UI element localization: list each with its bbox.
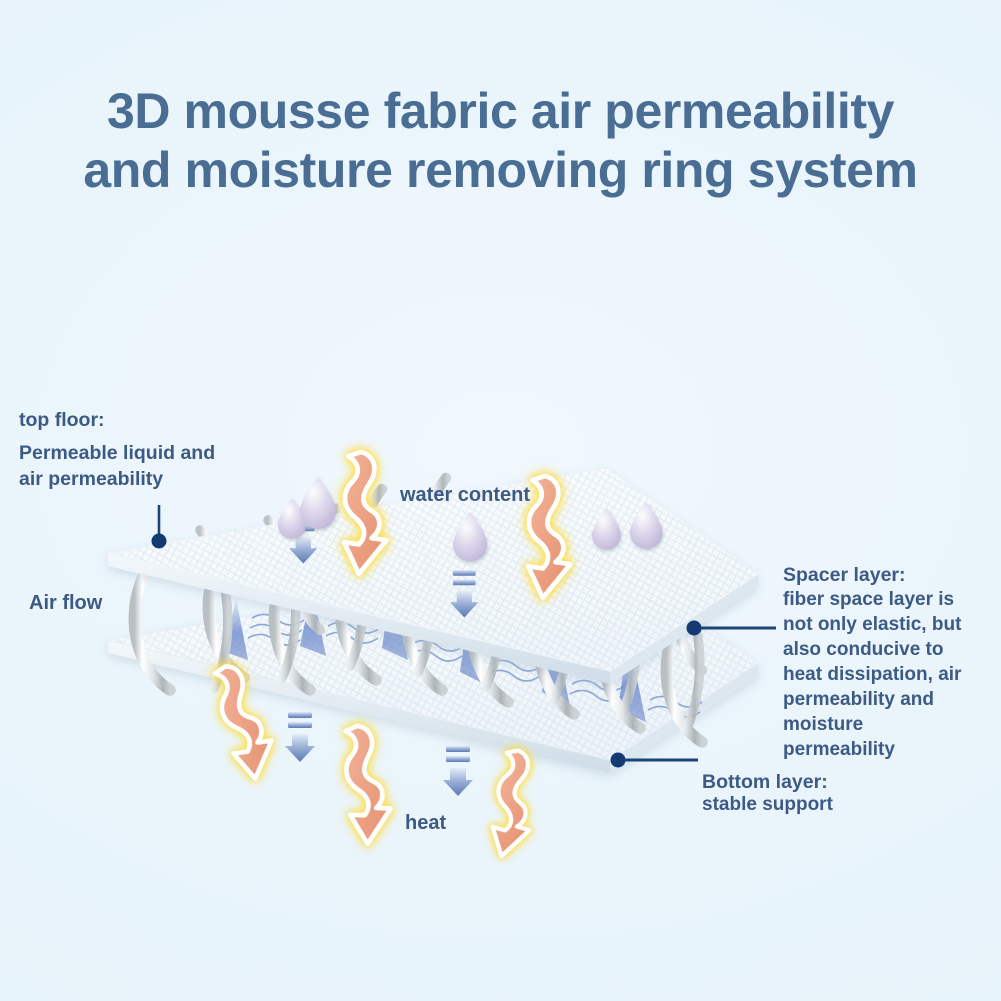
infographic-canvas: 3D mousse fabric air permeability and mo…	[0, 0, 1001, 1001]
label-top-floor-title: top floor:	[19, 408, 105, 434]
label-air-flow: Air flow	[29, 590, 102, 616]
leader-dot-icon-spacer	[687, 621, 702, 636]
air-block-arrow-icon	[285, 712, 315, 762]
label-bottom-body: stable support	[702, 792, 833, 817]
label-spacer-title: Spacer layer:	[783, 563, 906, 589]
leader-dot-icon-top-floor	[152, 534, 167, 549]
heat-wavy-arrow-icon	[341, 723, 394, 845]
air-block-arrow-icon	[443, 746, 473, 796]
label-spacer-body: fiber space layer is not only elastic, b…	[783, 587, 961, 763]
label-top-floor-body: Permeable liquid and air permeability	[19, 441, 215, 492]
heat-wavy-arrow-icon	[489, 749, 540, 860]
label-water-content: water content	[400, 482, 530, 508]
label-heat: heat	[405, 810, 446, 836]
water-droplet-icon	[300, 477, 336, 529]
leader-dot-icon-bottom	[611, 753, 626, 768]
